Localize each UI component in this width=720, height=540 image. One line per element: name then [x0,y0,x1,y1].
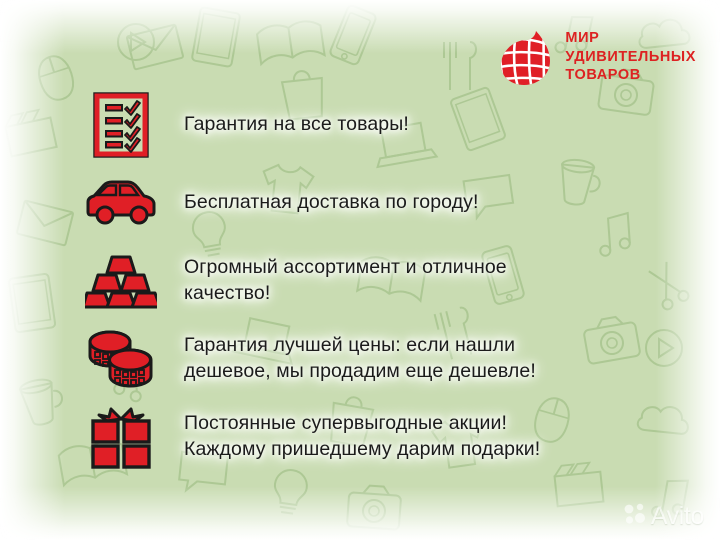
coin-stacks-icon [78,330,164,388]
red-globe-icon [494,26,556,88]
brand-line-2: УДИВИТЕЛЬНЫХ [565,48,696,66]
benefit-line: Гарантия на все товары! [184,112,668,138]
benefit-text: Гарантия на все товары! [164,112,668,138]
benefit-line: Огромный ассортимент и отличное [184,255,668,281]
benefit-line: Бесплатная доставка по городу! [184,190,668,216]
benefit-line: Постоянные супервыгодные акции! [184,411,668,437]
benefit-text: Бесплатная доставка по городу! [164,190,668,216]
avito-watermark: Avito [624,503,704,530]
benefit-line: качество! [184,281,668,307]
promo-poster: МИР УДИВИТЕЛЬНЫХ ТОВАРОВ [0,0,720,540]
benefit-item: Гарантия на все товары! [78,88,668,162]
benefit-text: Постоянные супервыгодные акции! Каждому … [164,411,668,463]
avito-wordmark: Avito [651,504,704,529]
gold-bars-icon [78,253,164,309]
brand-line-1: МИР [565,29,696,47]
avito-dots-icon [624,503,646,530]
gift-box-icon [78,405,164,469]
benefit-item: Постоянные супервыгодные акции! Каждому … [78,400,668,474]
benefit-line: Каждому пришедшему дарим подарки! [184,437,668,463]
car-icon [78,180,164,226]
benefit-item: Гарантия лучшей цены: если нашли дешевое… [78,322,668,396]
checklist-icon [78,92,164,158]
benefit-line: Гарантия лучшей цены: если нашли [184,333,668,359]
benefit-line: дешевое, мы продадим еще дешевле! [184,359,668,385]
benefits-list: Гарантия на все товары! Бесплатная доста… [78,88,668,478]
benefit-text: Огромный ассортимент и отличное качество… [164,255,668,307]
brand-logo: МИР УДИВИТЕЛЬНЫХ ТОВАРОВ [494,26,696,88]
brand-logo-text: МИР УДИВИТЕЛЬНЫХ ТОВАРОВ [565,29,696,84]
benefit-item: Бесплатная доставка по городу! [78,166,668,240]
benefit-text: Гарантия лучшей цены: если нашли дешевое… [164,333,668,385]
benefit-item: Огромный ассортимент и отличное качество… [78,244,668,318]
brand-line-3: ТОВАРОВ [565,66,696,84]
